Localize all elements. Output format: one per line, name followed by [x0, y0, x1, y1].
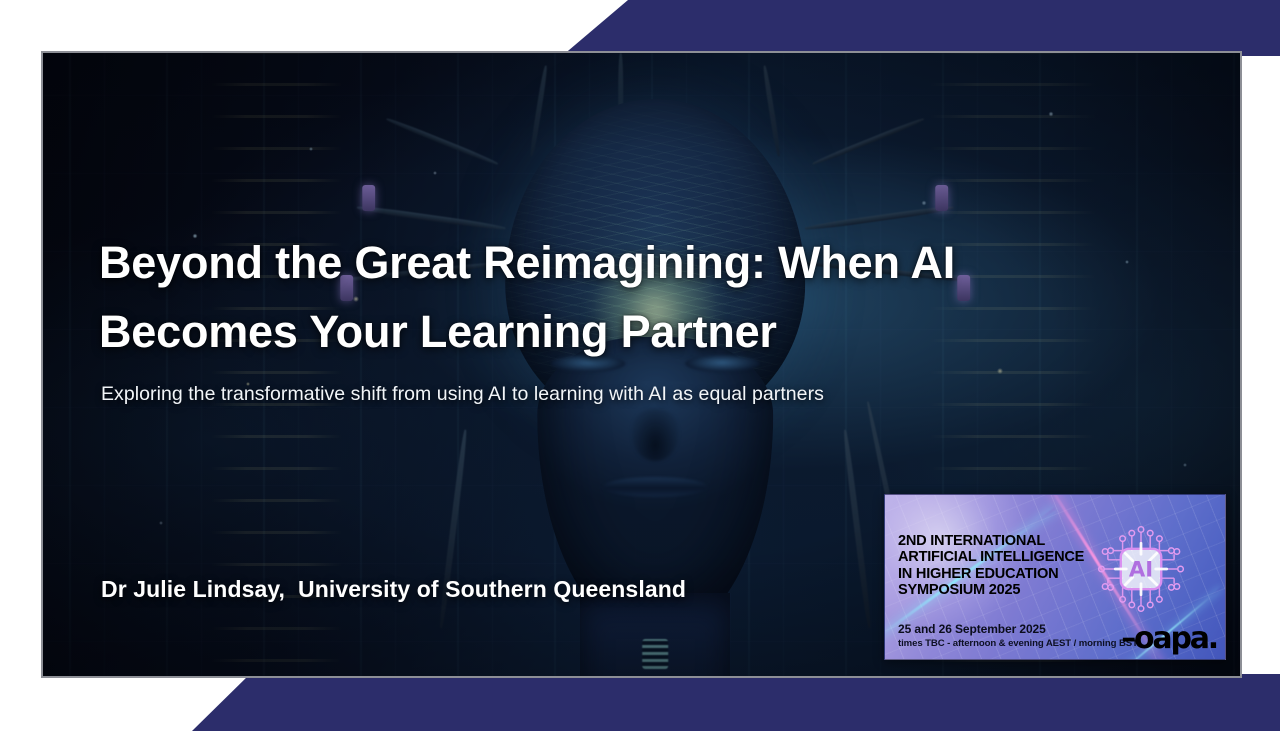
ai-chip-icon: AI	[1095, 523, 1187, 615]
decorative-band-bottom	[0, 674, 1280, 731]
cable	[811, 117, 924, 167]
presenter-credit: Dr Julie Lindsay, University of Southern…	[101, 576, 686, 603]
slide-hero-image: Beyond the Great Reimagining: When AI Be…	[41, 51, 1242, 678]
conference-badge: 2ND INTERNATIONAL ARTIFICIAL INTELLIGENC…	[884, 494, 1226, 660]
slide-subtitle: Exploring the transformative shift from …	[101, 383, 1099, 406]
ai-chip-label: AI	[1129, 556, 1153, 581]
cable	[762, 65, 781, 157]
badge-times: times TBC - afternoon & evening AEST / m…	[898, 638, 1138, 649]
cable-connector	[935, 185, 948, 211]
cable	[385, 117, 498, 167]
cable-connector	[362, 185, 375, 211]
decorative-band-top	[0, 0, 1280, 56]
robot-neck-port	[642, 639, 668, 669]
badge-dates: 25 and 26 September 2025	[898, 622, 1046, 636]
oapa-logo: –oapa.	[1121, 624, 1217, 654]
title-text-block: Beyond the Great Reimagining: When AI Be…	[99, 228, 1099, 406]
badge-headline: 2ND INTERNATIONAL ARTIFICIAL INTELLIGENC…	[898, 533, 1098, 598]
robot-mouth	[603, 477, 707, 497]
page-title: Beyond the Great Reimagining: When AI Be…	[99, 228, 1099, 367]
robot-nose	[632, 409, 678, 461]
slide-canvas: Beyond the Great Reimagining: When AI Be…	[0, 0, 1280, 731]
cable	[529, 65, 548, 157]
cable	[842, 429, 872, 628]
